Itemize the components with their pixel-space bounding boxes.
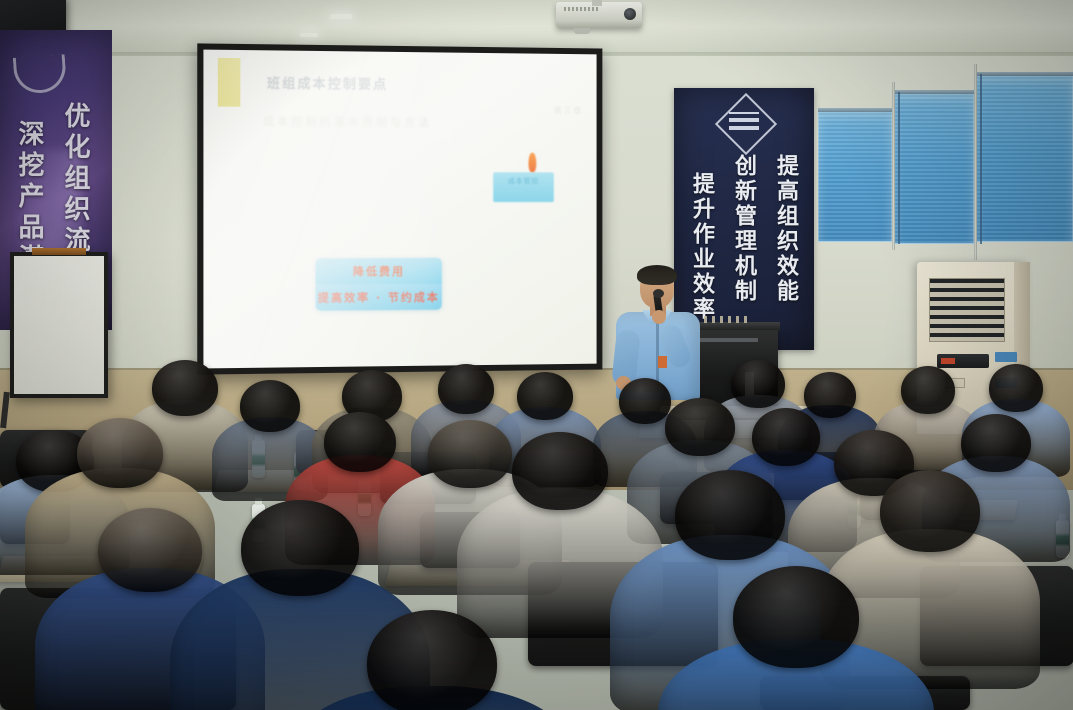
presenter-badge xyxy=(658,356,667,368)
ceiling-light-2 xyxy=(300,33,318,37)
projector-foot xyxy=(574,28,590,34)
screen-glare xyxy=(203,50,442,369)
audience-head xyxy=(241,500,359,596)
presenter-hair xyxy=(637,265,677,285)
window-blind-3[interactable] xyxy=(976,74,1073,242)
projector-vent xyxy=(564,7,598,11)
window-wall xyxy=(818,62,1073,262)
ceiling-light-1 xyxy=(330,14,352,19)
audience-head xyxy=(152,360,218,416)
banner-right-logo-mark-icon xyxy=(729,112,759,130)
presenter-hand xyxy=(652,310,666,324)
blind-rail-2 xyxy=(894,90,976,94)
blind-pull-rod-1[interactable] xyxy=(898,92,900,244)
air-conditioner-badge-1 xyxy=(995,352,1017,362)
flipchart-paper xyxy=(14,256,104,394)
microphone-head-icon xyxy=(653,289,664,298)
banner-right-column-1: 提高组织效能 xyxy=(774,154,796,304)
projector-lens-icon xyxy=(624,8,636,20)
audience-head xyxy=(880,470,980,552)
slide-graphic: 成本管控 xyxy=(493,172,554,202)
window-mullion-1 xyxy=(892,82,895,250)
audience-head xyxy=(675,470,785,560)
av-cabinet-knobs-icon xyxy=(704,316,748,323)
banner-left-logo-icon xyxy=(13,54,67,95)
slide-corner-note: 第三章 xyxy=(554,105,583,116)
banner-left-column-1: 优化组织流 xyxy=(62,102,88,257)
blind-pull-rod-2[interactable] xyxy=(980,74,982,244)
flipchart-clip-icon xyxy=(32,248,86,255)
blind-rail-1 xyxy=(818,108,894,112)
flipchart-whiteboard[interactable] xyxy=(10,252,108,398)
audience-head xyxy=(77,418,163,488)
slide-flame-icon xyxy=(528,153,536,173)
air-conditioner-grille-icon xyxy=(929,278,1005,342)
slide-surface: 班组成本控制要点 成本控制的基本原则与方法 第三章 成本管控 降低费用 提高效率… xyxy=(203,50,596,369)
audience-member xyxy=(658,566,934,710)
air-conditioner-led-icon xyxy=(941,358,955,364)
training-room-photo: 优化组织流 深挖产品潜 提高组织效能 创新管理机制 提升作业效率 xyxy=(0,0,1073,710)
window-mullion-2 xyxy=(974,64,977,260)
audience-member xyxy=(292,610,572,710)
projection-screen: 班组成本控制要点 成本控制的基本原则与方法 第三章 成本管控 降低费用 提高效率… xyxy=(197,43,602,374)
audience-head xyxy=(733,566,859,668)
audience-head xyxy=(512,432,608,510)
audience-head xyxy=(989,364,1043,412)
audience-head xyxy=(367,610,497,710)
audience-head xyxy=(438,364,494,414)
projector-mount xyxy=(592,0,602,6)
projector-icon xyxy=(556,2,642,28)
banner-right-column-2: 创新管理机制 xyxy=(732,154,754,304)
audience-head xyxy=(517,372,573,420)
window-blind-1[interactable] xyxy=(818,110,892,242)
blind-rail-3 xyxy=(976,72,1073,76)
audience-head xyxy=(901,366,955,414)
window-blind-2[interactable] xyxy=(894,92,974,244)
audience-head xyxy=(961,414,1031,472)
slide-graphic-label: 成本管控 xyxy=(493,172,554,202)
